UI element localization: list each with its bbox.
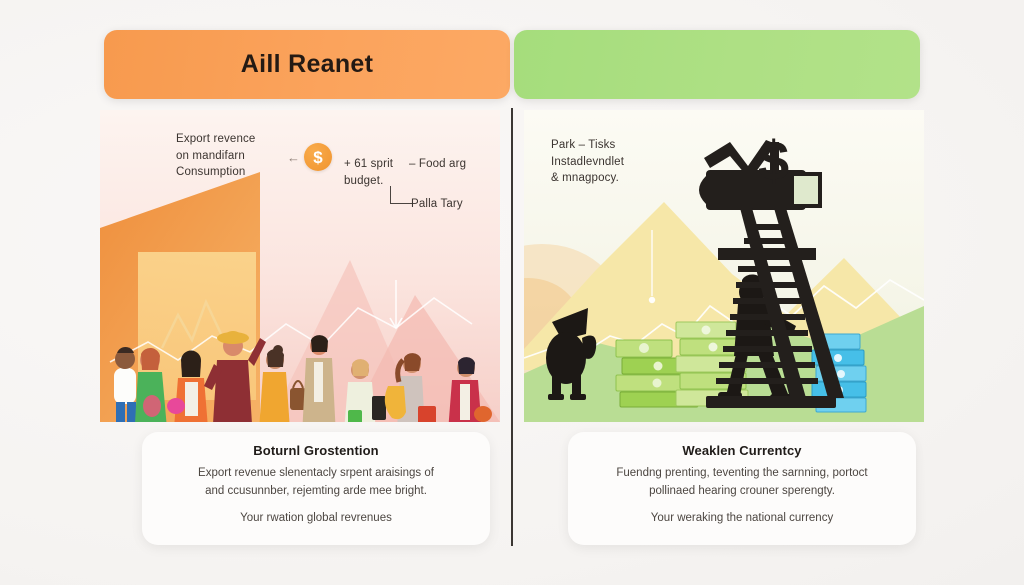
card-left-footer: Your rwation global revrenues xyxy=(160,512,472,524)
elbow-connector xyxy=(390,186,412,204)
summary-card-left: Boturnl Grostention Export revenue slene… xyxy=(142,432,490,545)
dollar-coin-symbol: $ xyxy=(313,149,322,166)
card-right-body: Fuendng prenting, teventing the sarnning… xyxy=(586,465,898,501)
dollar-coin-icon: $ xyxy=(304,143,332,171)
banner-left[interactable]: Aill Reanet xyxy=(104,30,510,99)
banner-right[interactable] xyxy=(514,30,920,99)
card-right-footer: Your weraking the national currency xyxy=(586,512,898,524)
annotation-palla-tary: Palla Tary xyxy=(411,196,463,213)
card-right-title: Weaklen Currentcy xyxy=(586,443,898,458)
banner-left-title: Aill Reanet xyxy=(241,50,374,79)
annotation-sprit-budget: + 61 sprit budget. xyxy=(344,156,393,189)
card-left-title: Boturnl Grostention xyxy=(160,443,472,458)
annotation-export-revenue: Export revence on mandifarn Consumption xyxy=(176,131,255,181)
center-divider xyxy=(511,108,513,546)
summary-card-right: Weaklen Currentcy Fuendng prenting, teve… xyxy=(568,432,916,545)
annotation-park-tisks: Park – Tisks Instadlevndlet & mnagpocy. xyxy=(551,137,624,187)
card-left-body: Export revenue slenentacly srpent araisi… xyxy=(160,465,472,501)
left-arrow-icon: ← xyxy=(287,150,300,165)
annotation-food-arg: – Food arg xyxy=(409,156,466,173)
dollar-sign-icon: $ xyxy=(758,133,789,189)
infographic-canvas: Aill Reanet xyxy=(0,0,1024,585)
